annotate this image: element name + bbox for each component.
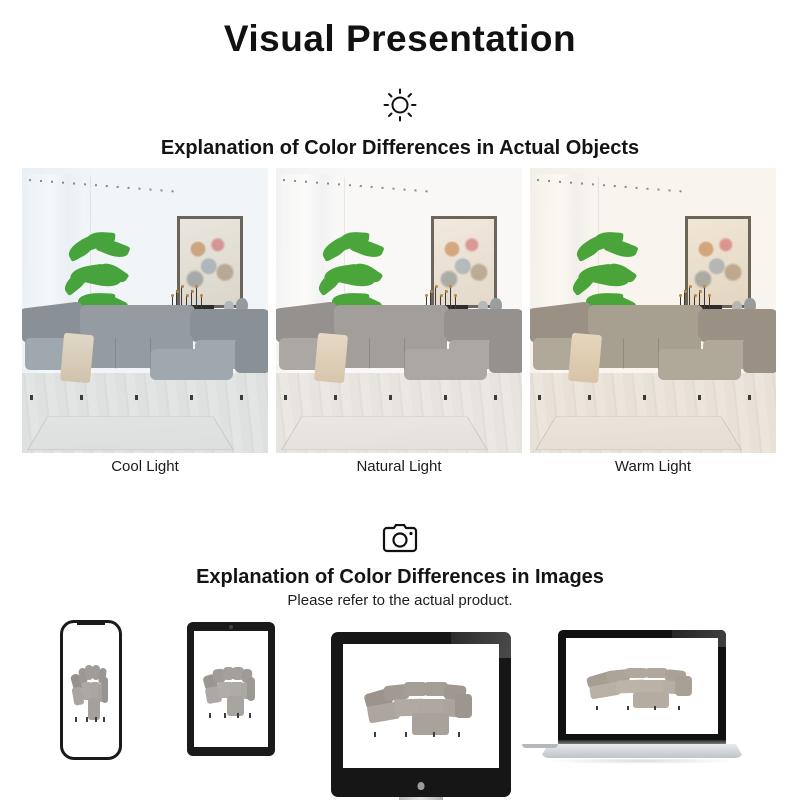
room-panel-cool-light (22, 168, 268, 453)
room-panel-warm-light (530, 168, 776, 453)
sofa-seam (150, 338, 151, 369)
sofa-leg (654, 706, 656, 710)
stem-bud (694, 294, 697, 297)
stem-bud (454, 294, 457, 297)
room-scene (276, 168, 522, 453)
sofa-leg (209, 713, 211, 718)
sofa-arm-right (235, 338, 268, 373)
page-title: Visual Presentation (0, 18, 800, 60)
images-section-title: Explanation of Color Differences in Imag… (0, 566, 800, 589)
stem-bud (445, 290, 448, 293)
stem-bud (171, 294, 174, 297)
sofa-leg (494, 395, 497, 400)
room-panel-natural-light (276, 168, 522, 453)
sofa-leg (75, 717, 77, 722)
sofa-product-image (194, 631, 268, 747)
sofa-leg (458, 732, 460, 737)
room-scene (22, 168, 268, 453)
sofa-module (88, 698, 100, 720)
lighting-captions: Cool Light Natural Light Warm Light (22, 458, 778, 482)
stem-bud (679, 294, 682, 297)
sofa-leg (95, 717, 97, 722)
sofa-leg (643, 395, 646, 400)
stem-bud (440, 294, 443, 297)
stem-bud (430, 290, 433, 293)
sofa-leg (678, 706, 680, 710)
sofa-leg (444, 395, 447, 400)
sofa-seam (115, 338, 116, 369)
camera-icon (382, 524, 418, 554)
stem-bud (176, 290, 179, 293)
sofa-seam (404, 338, 405, 369)
lighting-section-title: Explanation of Color Differences in Actu… (0, 137, 800, 160)
sofa-leg (405, 732, 407, 737)
sofa-product-image (566, 638, 718, 734)
visual-presentation-page: Visual Presentation Explanation of Color… (0, 0, 800, 800)
stem-bud (699, 290, 702, 293)
stem-bud (425, 294, 428, 297)
caption-warm-light: Warm Light (530, 458, 776, 482)
sofa-leg (433, 732, 435, 737)
monitor-screen (343, 644, 499, 768)
stem-bud (186, 294, 189, 297)
sofa-module (102, 677, 108, 703)
sofa-leg (284, 395, 287, 400)
sofa-seam (623, 338, 624, 369)
sofa-leg (596, 706, 598, 710)
sofa-module (455, 694, 472, 719)
room-scene (530, 168, 776, 453)
sofa-leg (389, 395, 392, 400)
caption-natural-light: Natural Light (276, 458, 522, 482)
sofa-seam (369, 338, 370, 369)
monitor-frame (331, 632, 511, 797)
sofa-leg (135, 395, 138, 400)
laptop-shadow (546, 758, 738, 764)
device-smartphone (60, 620, 122, 760)
sofa-leg (334, 395, 337, 400)
laptop-base (540, 744, 744, 758)
stem-bud (708, 294, 711, 297)
sofa-leg (627, 706, 629, 710)
phone-screen (65, 625, 117, 755)
throw-blanket (60, 333, 94, 384)
area-rug (27, 416, 234, 450)
sofa-module (675, 676, 692, 695)
lighting-panels (22, 168, 778, 453)
sofa-leg (86, 717, 88, 722)
stem-bud (684, 290, 687, 293)
sofa-leg (237, 713, 239, 718)
sofa-seam (658, 338, 659, 369)
sofa-product-image (65, 625, 117, 755)
sun-icon (383, 88, 417, 122)
stem-bud (191, 290, 194, 293)
sofa-product-image (343, 644, 499, 768)
tablet-screen (194, 631, 268, 747)
sofa-leg (103, 717, 105, 722)
camera-icon-container (0, 524, 800, 559)
sofa-ottoman (150, 349, 233, 380)
laptop-trackpad-notch (522, 744, 558, 748)
sofa-leg (240, 395, 243, 400)
sofa-leg (30, 395, 33, 400)
tablet-camera-icon (229, 625, 233, 629)
apple-logo-icon (418, 782, 425, 790)
sofa-module (412, 713, 449, 734)
sun-icon-container (0, 88, 800, 127)
sofa-leg (224, 713, 226, 718)
stem-bud (200, 294, 203, 297)
sectional-sofa (22, 299, 268, 396)
sofa-module (633, 692, 669, 708)
laptop-lid (558, 630, 726, 742)
images-section-note: Please refer to the actual product. (0, 592, 800, 609)
sofa-back-middle (80, 305, 195, 336)
sofa-leg (588, 395, 591, 400)
sofa-leg (698, 395, 701, 400)
sofa-leg (374, 732, 376, 737)
sofa-leg (538, 395, 541, 400)
caption-cool-light: Cool Light (22, 458, 268, 482)
sofa-module (227, 696, 245, 716)
device-tablet (187, 622, 275, 756)
laptop-screen (566, 638, 718, 734)
sofa-leg (748, 395, 751, 400)
sofa-leg (190, 395, 193, 400)
sofa-leg (249, 713, 251, 718)
sofa-back-right (190, 309, 268, 342)
sofa-module (247, 677, 255, 700)
sofa-leg (80, 395, 83, 400)
